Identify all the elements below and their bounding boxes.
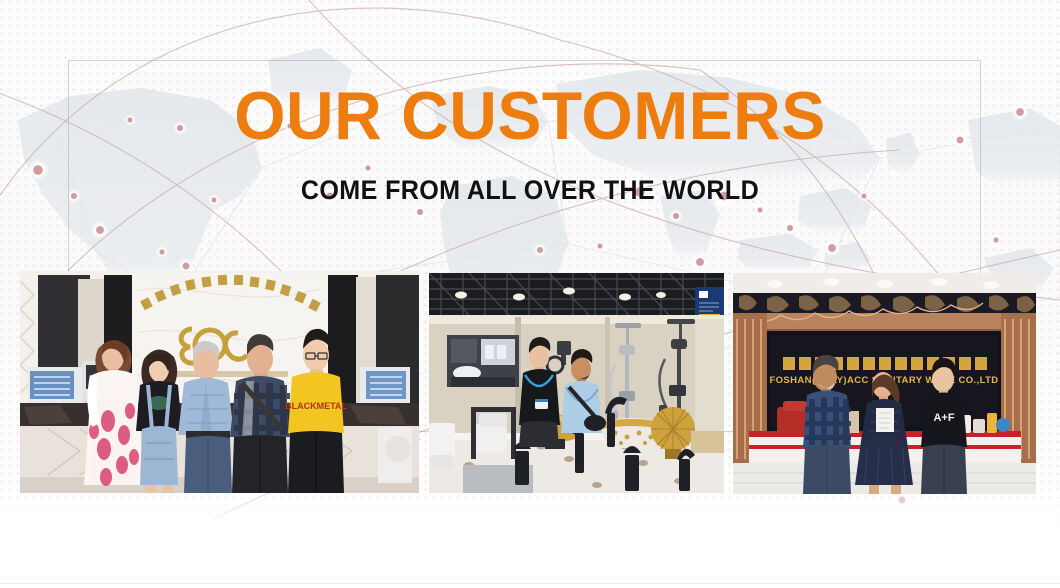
gallery-photo-3[interactable]: FOSHAN(ITALY)ACC SANITARY WARE CO.,LTD (733, 273, 1036, 494)
photo-showroom-group-five-graphic: BLACKMETAL (20, 271, 419, 493)
svg-text:BLACKMETAL: BLACKMETAL (285, 401, 347, 411)
gallery-photo-2[interactable] (429, 273, 724, 493)
photo-tradeshow-booth-two-men-graphic (429, 273, 724, 493)
customer-photo-gallery: BLACKMETAL (0, 0, 1060, 588)
bottom-divider (0, 583, 1060, 584)
photo-showroom-group-three-graphic: FOSHAN(ITALY)ACC SANITARY WARE CO.,LTD (733, 273, 1036, 494)
svg-text:A+F: A+F (933, 412, 954, 424)
gallery-photo-1[interactable]: BLACKMETAL (20, 271, 419, 493)
customers-banner: OUR CUSTOMERS COME FROM ALL OVER THE WOR… (0, 0, 1060, 588)
